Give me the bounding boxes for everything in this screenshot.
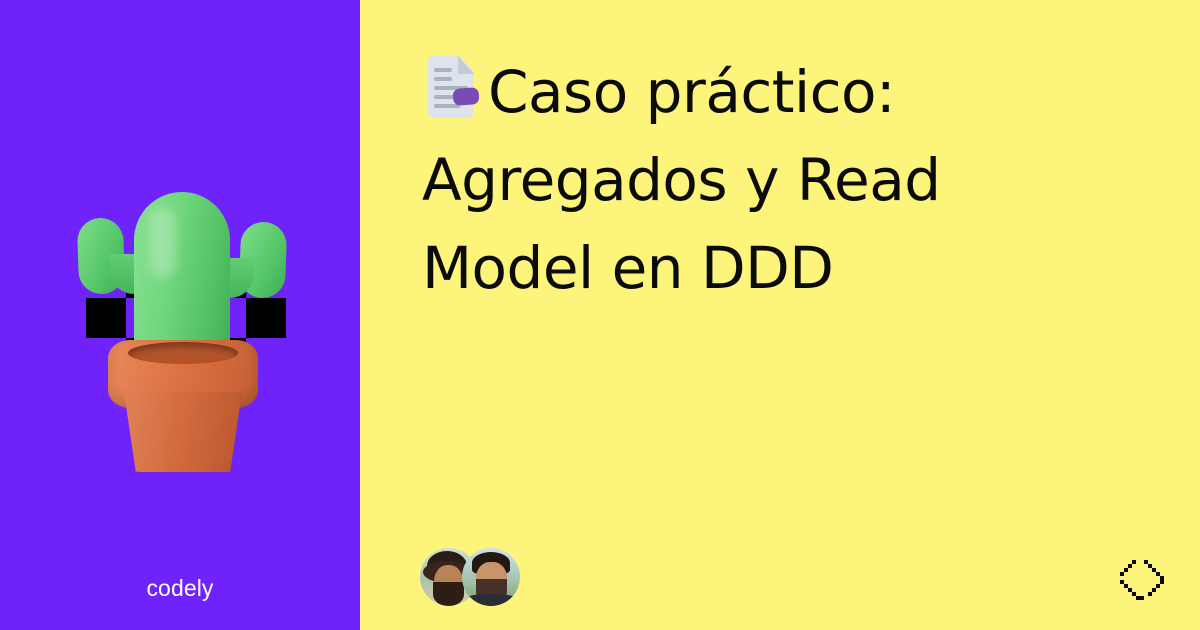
title-line-1: Caso práctico: — [422, 48, 1022, 136]
artwork-container — [0, 150, 360, 470]
right-panel: Caso práctico: Agregados y Read Model en… — [360, 0, 1200, 630]
author-avatars — [420, 546, 520, 608]
page-title: Caso práctico: Agregados y Read Model en… — [422, 48, 1022, 312]
page-with-curl-icon — [422, 52, 480, 122]
avatar — [462, 548, 520, 606]
title-text-line-1: Caso práctico: — [488, 58, 895, 126]
title-text-line-2: Agregados y Read — [422, 136, 1022, 224]
code-brackets-pixel-icon — [1120, 560, 1164, 600]
brand-wordmark: codely — [0, 575, 360, 602]
flower-pot-body — [124, 392, 242, 472]
title-text-line-3: Model en DDD — [422, 224, 1022, 312]
cactus-illustration — [72, 192, 292, 442]
left-panel: codely — [0, 0, 360, 630]
share-card: codely Caso práctico: Agregados y Read M… — [0, 0, 1200, 630]
